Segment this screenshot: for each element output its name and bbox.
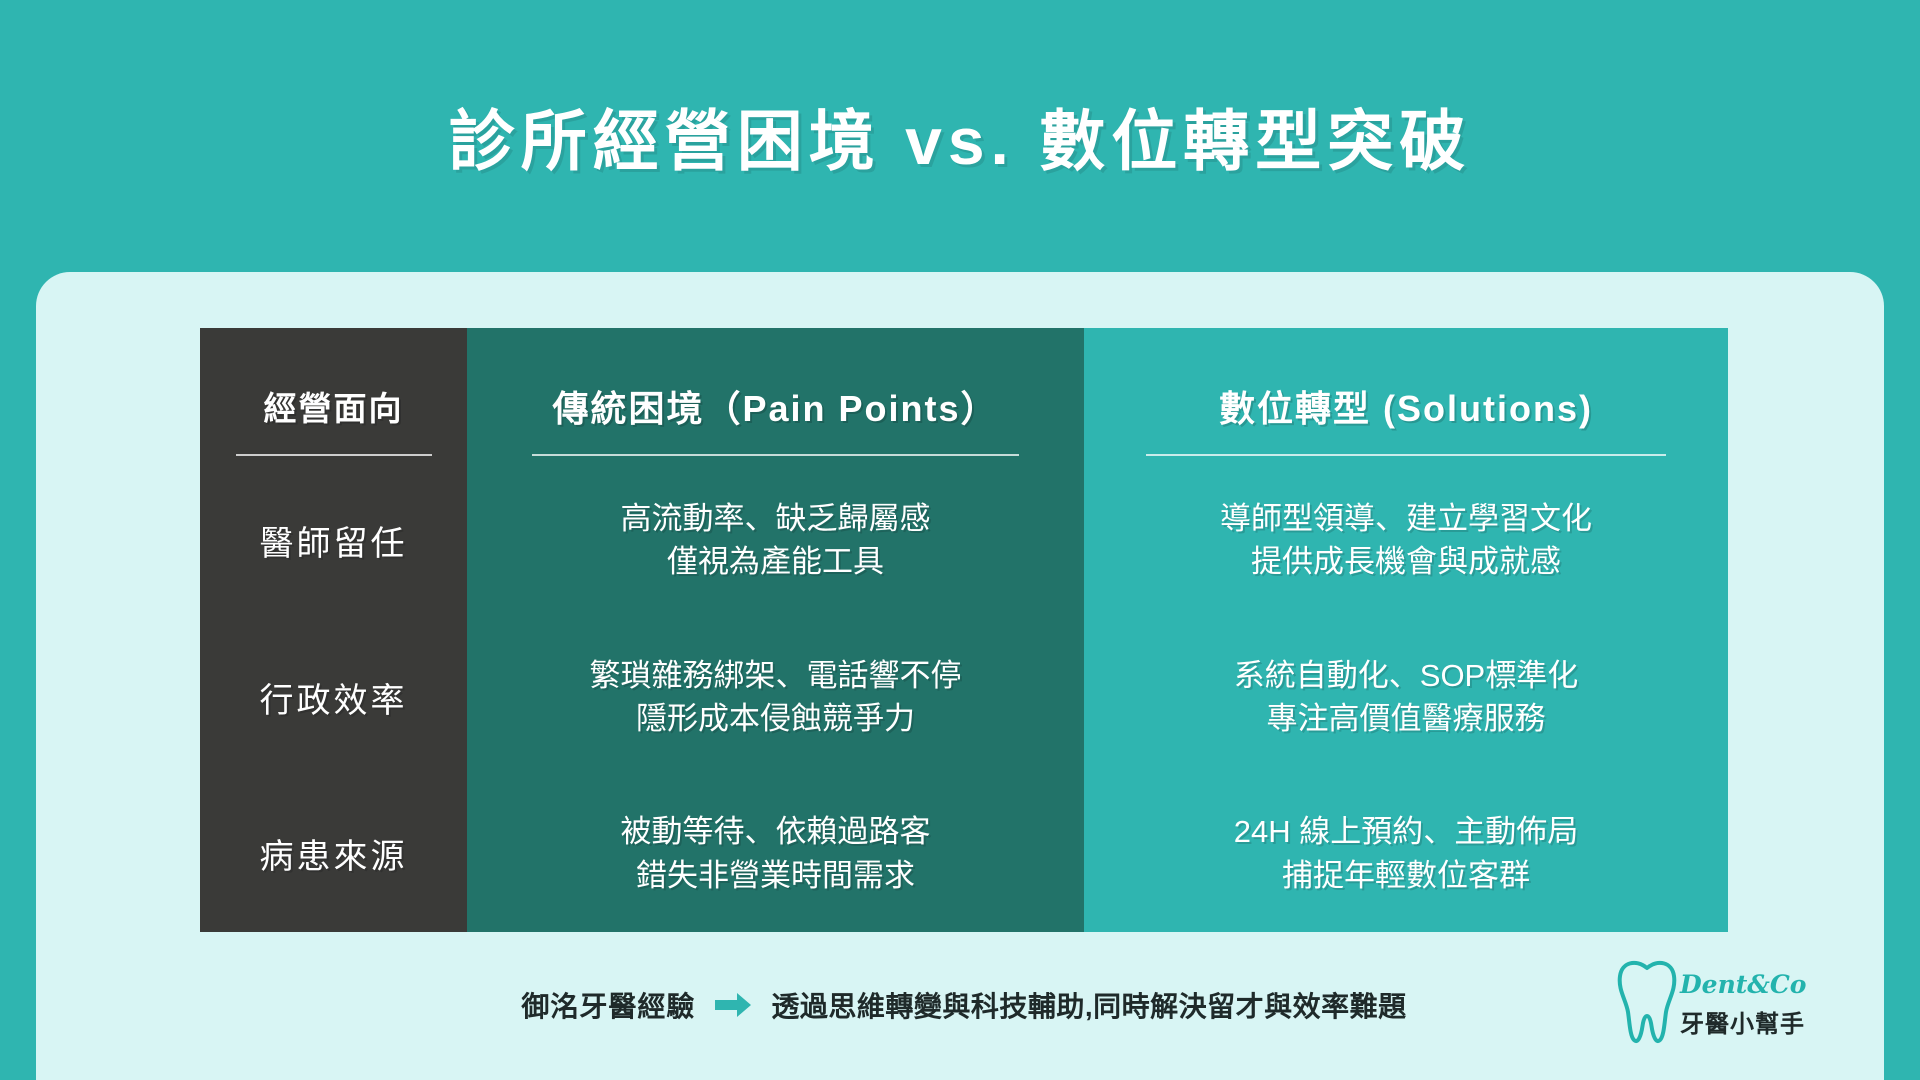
header-rule-pain [532,454,1019,456]
logo-script-text: Dent&Co [1680,970,1806,999]
footer-note: 御洺牙醫經驗 透過思維轉變與科技輔助,同時解決留才與效率難題 [200,962,1728,1048]
aspect-label: 醫師留任 [260,516,408,565]
pain-line: 隱形成本侵蝕競爭力 [636,697,915,740]
pain-line: 繁瑣雜務綁架、電話響不停 [590,654,962,697]
table-row: 高流動率、缺乏歸屬感 僅視為產能工具 [467,462,1084,619]
footer-brand: 御洺牙醫經驗 [521,985,695,1025]
page-title: 診所經營困境 vs. 數位轉型突破 [449,88,1471,184]
table-row: 24H 線上預約、主動佈局 捕捉年輕數位客群 [1084,775,1728,932]
solution-line: 專注高價值醫療服務 [1267,697,1546,740]
pain-line: 高流動率、缺乏歸屬感 [621,497,931,540]
aspect-label: 行政效率 [260,673,408,722]
header-rule-aspect [236,454,432,456]
brand-logo: Dent&Co 牙醫小幫手 [1616,960,1826,1056]
table-row: 導師型領導、建立學習文化 提供成長機會與成就感 [1084,462,1728,619]
title-band: 診所經營困境 vs. 數位轉型突破 [0,0,1920,272]
aspect-cells: 醫師留任 行政效率 病患來源 [200,462,467,932]
footer-text: 透過思維轉變與科技輔助,同時解決留才與效率難題 [771,985,1406,1025]
pain-cells: 高流動率、缺乏歸屬感 僅視為產能工具 繁瑣雜務綁架、電話響不停 隱形成本侵蝕競爭… [467,462,1084,932]
column-header-solution: 數位轉型 (Solutions) [1084,358,1728,454]
solution-line: 系統自動化、SOP標準化 [1234,654,1578,697]
solution-cells: 導師型領導、建立學習文化 提供成長機會與成就感 系統自動化、SOP標準化 專注高… [1084,462,1728,932]
comparison-table: 經營面向 醫師留任 行政效率 病患來源 傳統困境（Pain Points） 高流 [200,328,1728,932]
solution-line: 24H 線上預約、主動佈局 [1234,810,1578,853]
solution-line: 提供成長機會與成就感 [1251,540,1561,583]
logo-chinese-text: 牙醫小幫手 [1680,1004,1805,1039]
table-row: 系統自動化、SOP標準化 專注高價值醫療服務 [1084,619,1728,776]
aspect-label: 病患來源 [260,829,408,878]
column-solutions: 數位轉型 (Solutions) 導師型領導、建立學習文化 提供成長機會與成就感… [1084,328,1728,932]
pain-line: 被動等待、依賴過路客 [621,810,931,853]
pain-line: 錯失非營業時間需求 [636,854,915,897]
arrow-right-icon [713,991,753,1019]
column-header-pain: 傳統困境（Pain Points） [467,358,1084,454]
solution-line: 導師型領導、建立學習文化 [1220,497,1592,540]
solution-line: 捕捉年輕數位客群 [1282,854,1530,897]
table-row: 醫師留任 [200,462,467,619]
column-pain-points: 傳統困境（Pain Points） 高流動率、缺乏歸屬感 僅視為產能工具 繁瑣雜… [467,328,1084,932]
table-row: 病患來源 [200,775,467,932]
table-row: 繁瑣雜務綁架、電話響不停 隱形成本侵蝕競爭力 [467,619,1084,776]
content-card: 經營面向 醫師留任 行政效率 病患來源 傳統困境（Pain Points） 高流 [36,272,1884,1080]
table-row: 行政效率 [200,619,467,776]
pain-line: 僅視為產能工具 [667,540,884,583]
header-rule-solution [1146,454,1666,456]
column-header-aspect: 經營面向 [200,358,467,454]
table-row: 被動等待、依賴過路客 錯失非營業時間需求 [467,775,1084,932]
column-aspect: 經營面向 醫師留任 行政效率 病患來源 [200,328,467,932]
